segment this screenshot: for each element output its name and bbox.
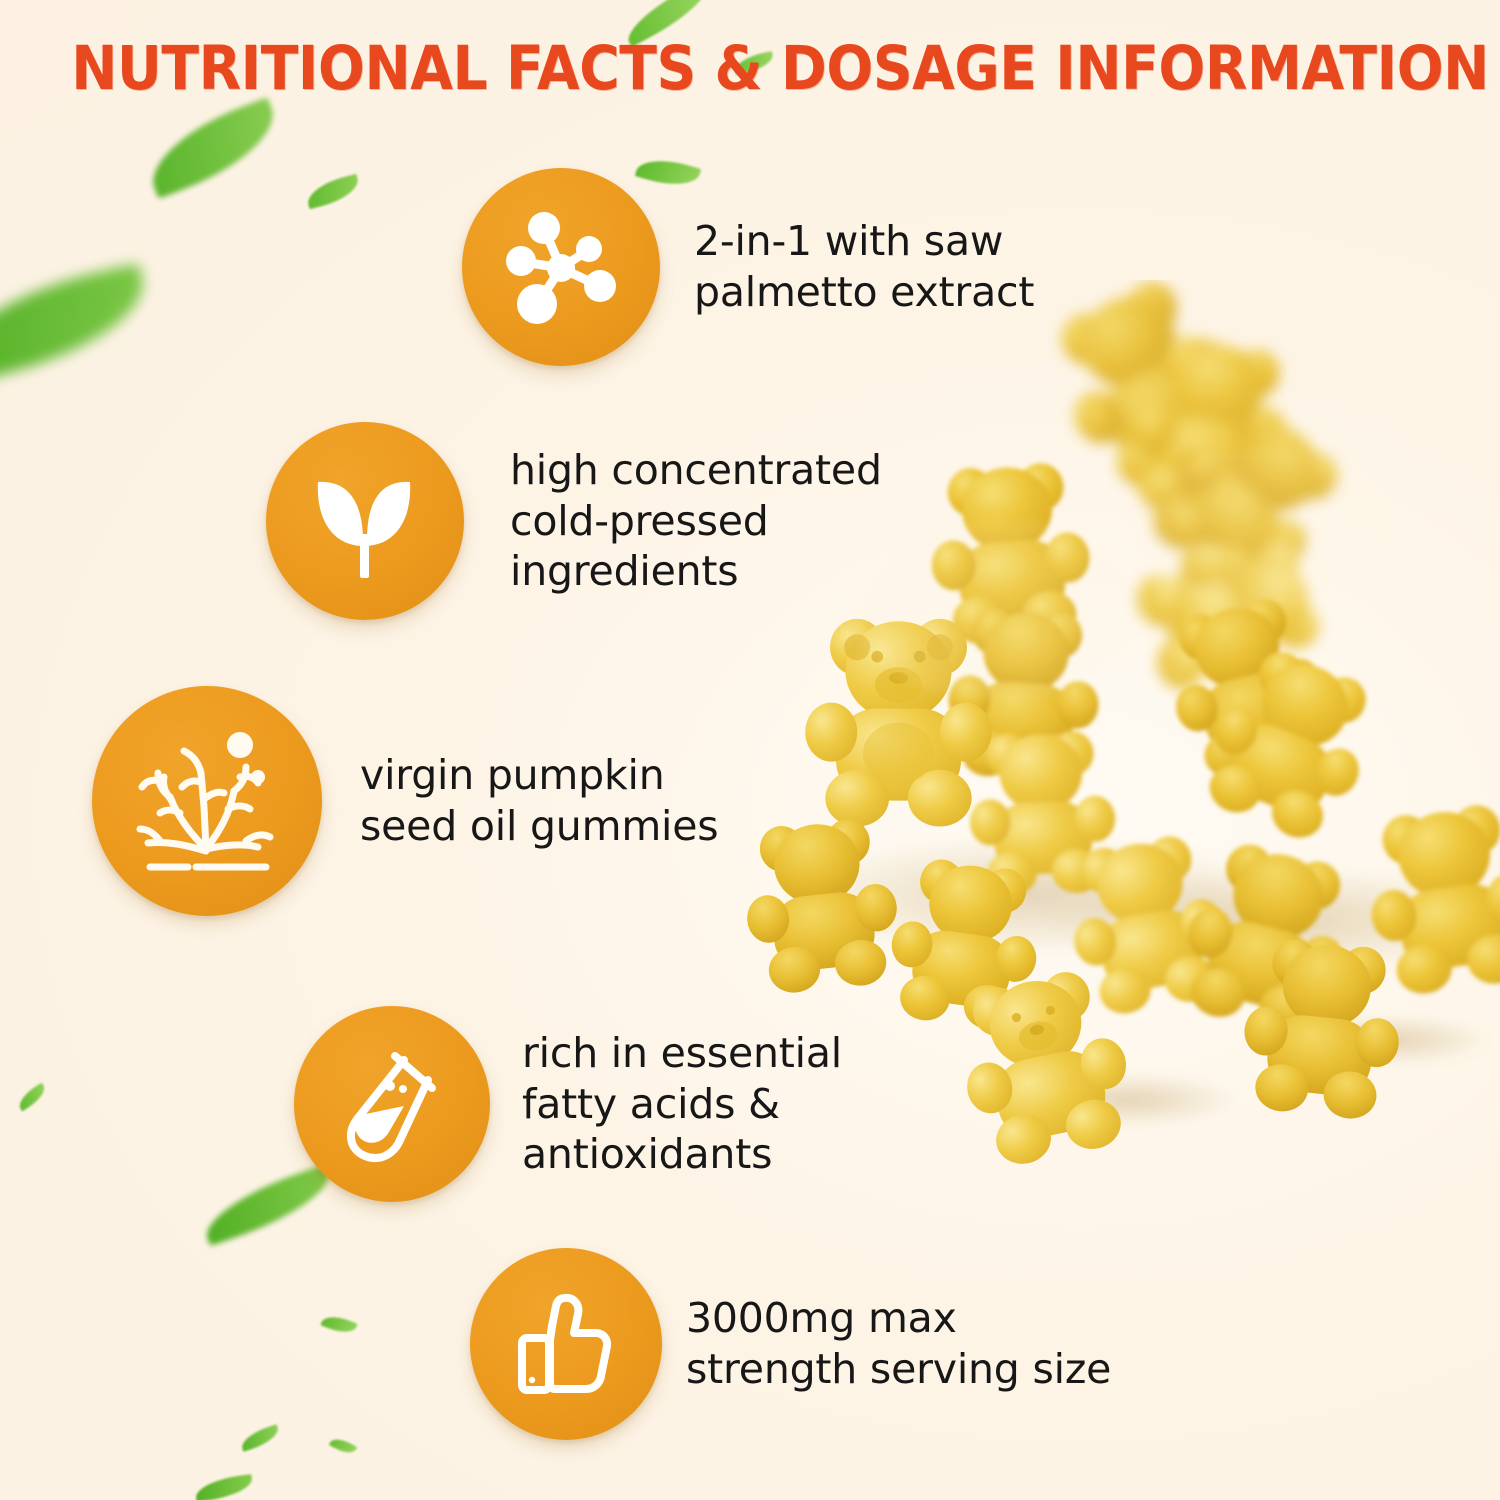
- infographic-page: NUTRITIONAL FACTS & DOSAGE INFORMATION: [0, 0, 1500, 1500]
- leaf-decoration: [304, 174, 362, 209]
- feature-row-2: high concentrated cold-pressed ingredien…: [266, 422, 950, 620]
- feature-label-3: virgin pumpkin seed oil gummies: [360, 750, 780, 851]
- feature-row-5: 3000mg max strength serving size: [470, 1248, 1206, 1440]
- leaf-decoration: [239, 1424, 282, 1452]
- feature-label-1: 2-in-1 with saw palmetto extract: [694, 216, 1124, 317]
- coral-plant-icon: [92, 686, 322, 916]
- leaf-decoration: [15, 1083, 50, 1112]
- leaf-decoration: [139, 97, 288, 199]
- feature-label-2: high concentrated cold-pressed ingredien…: [510, 445, 950, 597]
- feature-row-4: rich in essential fatty acids & antioxid…: [294, 1006, 952, 1202]
- leaf-decoration: [194, 1474, 254, 1500]
- page-title: NUTRITIONAL FACTS & DOSAGE INFORMATION: [71, 38, 1429, 99]
- leaf-decoration: [320, 1311, 357, 1338]
- leaf-decoration: [329, 1434, 358, 1457]
- feature-row-3: virgin pumpkin seed oil gummies: [92, 686, 780, 916]
- leaf-decoration: [0, 263, 156, 385]
- molecule-icon: [462, 168, 660, 366]
- feature-row-1: 2-in-1 with saw palmetto extract: [462, 168, 1124, 366]
- feature-label-5: 3000mg max strength serving size: [686, 1293, 1206, 1394]
- thumbs-up-icon: [470, 1248, 662, 1440]
- sprout-leaf-icon: [266, 422, 464, 620]
- feature-label-4: rich in essential fatty acids & antioxid…: [522, 1028, 952, 1180]
- test-tube-icon: [294, 1006, 490, 1202]
